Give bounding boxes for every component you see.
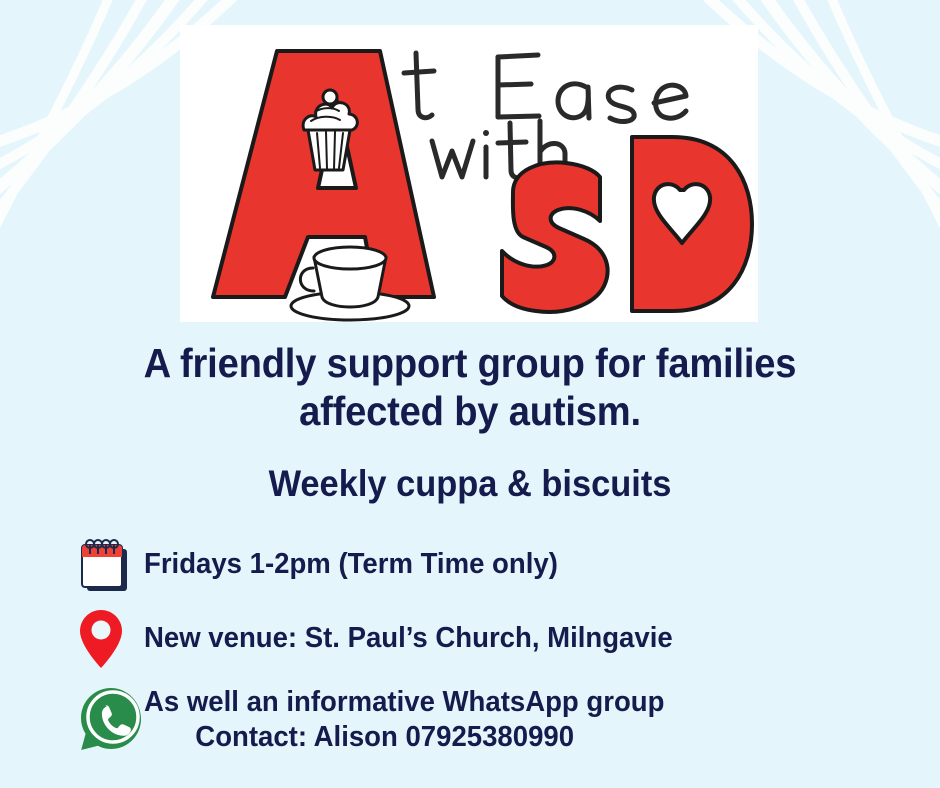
logo-panel	[180, 25, 758, 322]
info-row-whatsapp: As well an informative WhatsApp group Co…	[0, 676, 940, 764]
at-ease-with-asd-logo	[180, 25, 758, 322]
headline-line-1: A friendly support group for families	[33, 340, 907, 388]
info-row-schedule: Fridays 1-2pm (Term Time only)	[0, 528, 940, 602]
info-row-venue: New venue: St. Paul’s Church, Milngavie	[0, 602, 940, 676]
headline-block: A friendly support group for families af…	[0, 340, 940, 506]
location-pin-icon	[78, 608, 124, 670]
subheadline: Weekly cuppa & biscuits	[33, 436, 907, 506]
info-rows: Fridays 1-2pm (Term Time only) New venue…	[0, 528, 940, 764]
whatsapp-icon[interactable]	[78, 686, 144, 754]
schedule-text: Fridays 1-2pm (Term Time only)	[144, 547, 558, 582]
headline-line-2: affected by autism.	[33, 388, 907, 436]
whatsapp-icon-wrap	[78, 686, 144, 754]
venue-text: New venue: St. Paul’s Church, Milngavie	[144, 621, 673, 656]
whatsapp-text: As well an informative WhatsApp group Co…	[144, 685, 664, 756]
poster-root: A friendly support group for families af…	[0, 0, 940, 788]
location-pin-icon-wrap	[78, 608, 144, 670]
whatsapp-line-1: As well an informative WhatsApp group	[144, 686, 664, 718]
whatsapp-line-2: Contact: Alison 07925380990	[144, 720, 664, 755]
calendar-icon-wrap	[78, 537, 144, 593]
calendar-icon	[78, 537, 130, 593]
